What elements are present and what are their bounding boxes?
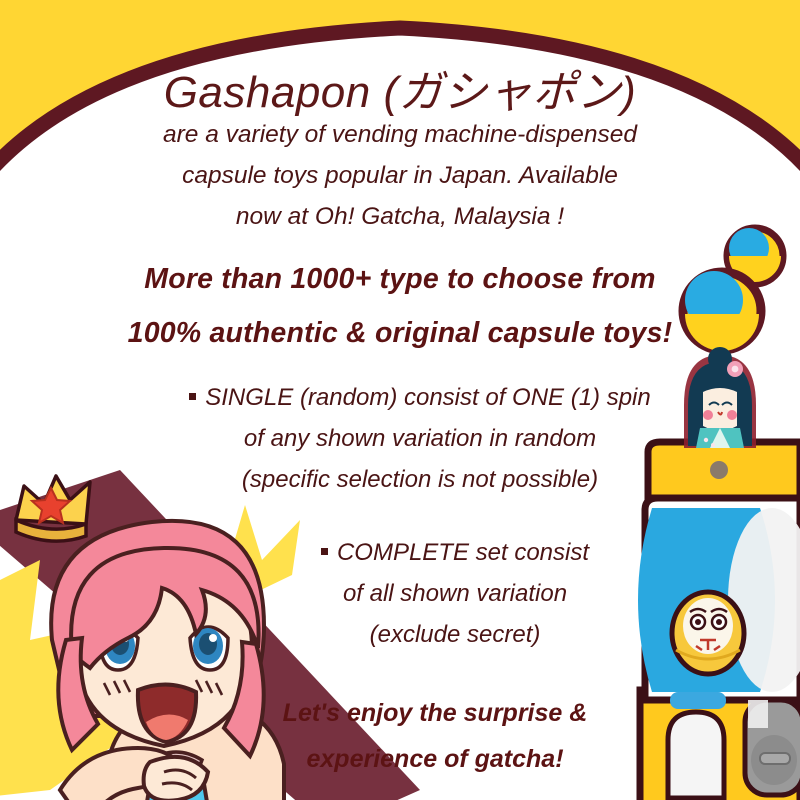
- gachapon-machine: [638, 442, 800, 800]
- machine-dispenser-door: [668, 712, 724, 798]
- poster-canvas: Gashapon (ガシャポン) are a variety of vendin…: [0, 0, 800, 800]
- coin-slot: [760, 753, 790, 764]
- daruma-icon: [672, 592, 744, 674]
- foreground-art: [0, 0, 800, 800]
- crown-icon: [16, 476, 90, 541]
- kokeshi-doll: [684, 347, 756, 448]
- girl-hand: [144, 757, 208, 800]
- anime-girl-character: [51, 521, 284, 800]
- machine-knob: [710, 461, 728, 479]
- machine-label: [670, 692, 726, 709]
- hair-flower-icon: [727, 361, 743, 377]
